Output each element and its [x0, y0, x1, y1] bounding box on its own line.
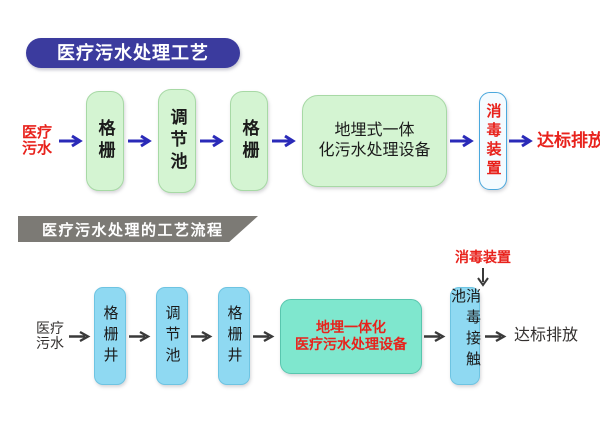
arrow-right-icon	[447, 134, 479, 148]
section2-node-buried-equipment-line1: 地埋一体化	[295, 319, 407, 337]
arrow-right-icon	[507, 134, 537, 148]
section2-outlet-text: 达标排放	[514, 327, 578, 344]
section2-node-grille-well-1-label: 格栅井	[103, 305, 118, 368]
arrow-down-icon	[441, 268, 525, 288]
section1-node-grille-1-label: 格栅	[97, 119, 114, 163]
arrow-right-icon	[188, 330, 218, 343]
section1-node-disinfection-device-label: 消毒装置	[486, 103, 501, 179]
section2-inlet-line1: 医疗	[36, 321, 64, 336]
arrow-right-icon	[480, 330, 514, 343]
section2-callout-label: 消毒装置	[441, 250, 525, 264]
section2-flow-row: 医疗 污水 格栅井 调节池 格栅井 地埋一体化 医疗污水处理设备	[36, 286, 578, 386]
section2-node-grille-well-2-label: 格栅井	[227, 305, 242, 368]
section1-outlet-text: 达标排放	[537, 132, 600, 150]
section1-title-text: 医疗污水处理工艺	[57, 44, 209, 62]
section2-node-disinfection-contact-tank-label: 消毒接触池	[450, 288, 480, 384]
section2-inlet-label: 医疗 污水	[36, 321, 64, 351]
section2-node-disinfection-contact-tank: 消毒接触池	[450, 287, 480, 385]
section1-inlet-label: 医疗 污水	[22, 125, 52, 157]
section2-title-text: 医疗污水处理的工艺流程	[42, 216, 224, 242]
arrow-right-icon	[250, 330, 280, 343]
arrow-right-icon	[196, 134, 230, 148]
section2-node-regulating-tank: 调节池	[156, 287, 188, 385]
section1-node-grille-2: 格栅	[230, 91, 268, 191]
section1-inlet-line2: 污水	[22, 141, 52, 157]
diagram-canvas: 医疗污水处理工艺 医疗 污水 格栅 调节池 格栅 地	[0, 0, 600, 430]
arrow-right-icon	[422, 330, 450, 343]
arrow-right-icon	[124, 134, 158, 148]
section2-disinfection-callout: 消毒装置	[441, 250, 525, 288]
section2-node-grille-well-1: 格栅井	[94, 287, 126, 385]
section2-outlet-label: 达标排放	[514, 327, 578, 344]
section1-flow-row: 医疗 污水 格栅 调节池 格栅 地埋式一体 化污水处理设备	[22, 86, 600, 196]
section1-node-buried-equipment-line1: 地埋式一体	[319, 121, 431, 141]
section2-node-buried-equipment: 地埋一体化 医疗污水处理设备	[280, 299, 422, 374]
arrow-right-icon	[68, 330, 94, 343]
section2-node-buried-equipment-line2: 医疗污水处理设备	[295, 336, 407, 354]
section1-node-grille-1: 格栅	[86, 91, 124, 191]
arrow-right-icon	[58, 134, 86, 148]
arrow-right-icon	[126, 330, 156, 343]
section1-node-buried-equipment-line2: 化污水处理设备	[319, 141, 431, 161]
section2-node-regulating-tank-label: 调节池	[165, 305, 180, 368]
section2-inlet-line2: 污水	[36, 336, 64, 351]
section2-title-banner: 医疗污水处理的工艺流程	[18, 216, 258, 242]
section1-node-regulating-tank-label: 调节池	[169, 108, 186, 174]
section1-node-grille-2-label: 格栅	[241, 119, 258, 163]
section1-node-regulating-tank: 调节池	[158, 89, 196, 193]
section1-node-buried-equipment: 地埋式一体 化污水处理设备	[302, 95, 447, 187]
section1-node-buried-equipment-label: 地埋式一体 化污水处理设备	[319, 121, 431, 161]
section1-node-disinfection-device: 消毒装置	[479, 92, 507, 190]
arrow-right-icon	[268, 134, 302, 148]
section2-node-buried-equipment-label: 地埋一体化 医疗污水处理设备	[295, 319, 407, 354]
section1-outlet-label: 达标排放	[537, 132, 600, 150]
section2-node-grille-well-2: 格栅井	[218, 287, 250, 385]
section1-inlet-line1: 医疗	[22, 125, 52, 141]
section1-title-pill: 医疗污水处理工艺	[26, 38, 240, 68]
